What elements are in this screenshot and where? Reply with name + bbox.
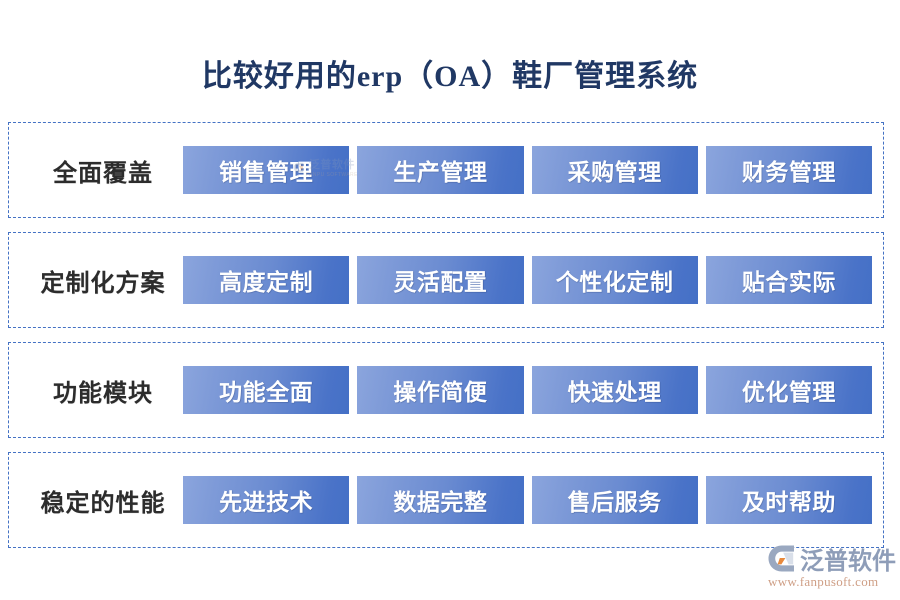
feature-chip[interactable]: 生产管理 [357, 146, 523, 194]
brand-name: 泛普软件 [800, 541, 896, 576]
feature-chip[interactable]: 先进技术 [183, 476, 349, 524]
row-label: 功能模块 [23, 373, 183, 408]
poster-canvas: 比较好用的erp（OA）鞋厂管理系统 全面覆盖 销售管理 生产管理 采购管理 财… [0, 0, 900, 600]
feature-chip[interactable]: 财务管理 [706, 146, 872, 194]
feature-rows: 全面覆盖 销售管理 生产管理 采购管理 财务管理 定制化方案 高度定制 灵活配置… [8, 122, 884, 562]
chip-group: 功能全面 操作简便 快速处理 优化管理 [183, 366, 883, 414]
feature-chip[interactable]: 采购管理 [532, 146, 698, 194]
feature-chip[interactable]: 售后服务 [532, 476, 698, 524]
chip-group: 高度定制 灵活配置 个性化定制 贴合实际 [183, 256, 883, 304]
feature-chip[interactable]: 及时帮助 [706, 476, 872, 524]
chip-group: 销售管理 生产管理 采购管理 财务管理 [183, 146, 883, 194]
page-title: 比较好用的erp（OA）鞋厂管理系统 [0, 56, 900, 98]
feature-chip[interactable]: 快速处理 [532, 366, 698, 414]
feature-chip[interactable]: 个性化定制 [532, 256, 698, 304]
feature-row: 定制化方案 高度定制 灵活配置 个性化定制 贴合实际 [8, 232, 884, 328]
feature-chip[interactable]: 销售管理 [183, 146, 349, 194]
feature-chip[interactable]: 高度定制 [183, 256, 349, 304]
row-label: 全面覆盖 [23, 153, 183, 188]
feature-chip[interactable]: 优化管理 [706, 366, 872, 414]
feature-chip[interactable]: 贴合实际 [706, 256, 872, 304]
feature-row: 稳定的性能 先进技术 数据完整 售后服务 及时帮助 [8, 452, 884, 548]
chip-group: 先进技术 数据完整 售后服务 及时帮助 [183, 476, 883, 524]
row-label: 定制化方案 [23, 263, 183, 298]
row-label: 稳定的性能 [23, 483, 183, 518]
brand-logo: 泛普软件 www.fanpusoft.com [766, 543, 894, 591]
feature-row: 功能模块 功能全面 操作简便 快速处理 优化管理 [8, 342, 884, 438]
feature-chip[interactable]: 操作简便 [357, 366, 523, 414]
feature-chip[interactable]: 灵活配置 [357, 256, 523, 304]
brand-logo-row: 泛普软件 [766, 543, 896, 573]
brand-url: www.fanpusoft.com [768, 574, 878, 590]
feature-chip[interactable]: 功能全面 [183, 366, 349, 414]
feature-chip[interactable]: 数据完整 [357, 476, 523, 524]
fanpu-logo-icon [766, 544, 796, 573]
feature-row: 全面覆盖 销售管理 生产管理 采购管理 财务管理 [8, 122, 884, 218]
